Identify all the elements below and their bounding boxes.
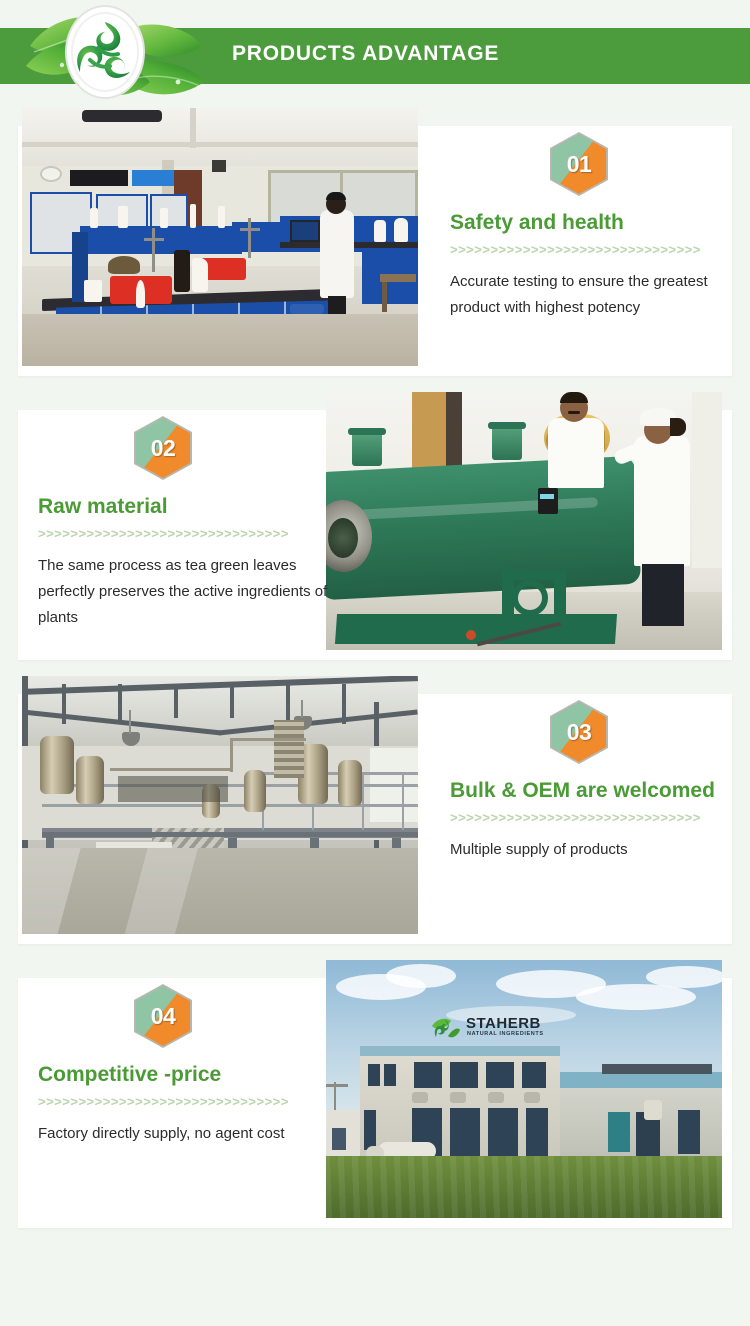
advantage-description: The same process as tea green leaves per… [38,553,328,631]
advantage-title: Raw material [38,494,328,519]
advantage-number: 03 [550,700,608,764]
advantage-row-01: 01 Safety and health >>>>>>>>>>>>>>>>>>>… [0,108,750,392]
advantage-text-01: 01 Safety and health >>>>>>>>>>>>>>>>>>>… [450,132,740,321]
advantage-number: 01 [550,132,608,196]
building-tagline-text: NATURAL INGREDIENTS [467,1031,544,1037]
rooftop-sign: STAHERB NATURAL INGREDIENTS [426,1016,576,1048]
extraction-factory-interior-photo [22,676,418,934]
advantage-text-03: 03 Bulk & OEM are welcomed >>>>>>>>>>>>>… [450,700,740,863]
advantage-list: 01 Safety and health >>>>>>>>>>>>>>>>>>>… [0,108,750,1244]
staherb-factory-building-photo: STAHERB NATURAL INGREDIENTS [326,960,722,1218]
advantage-text-02: 02 Raw material >>>>>>>>>>>>>>>>>>>>>>>>… [38,416,328,631]
advantage-badge-04: 04 [134,984,192,1048]
page-header: PRODUCTS ADVANTAGE [0,0,750,108]
staherb-leaf-logo-small [430,1014,460,1044]
chevron-divider-icon: >>>>>>>>>>>>>>>>>>>>>>>>>>>>>>> [450,811,740,825]
advantage-badge-03: 03 [550,700,608,764]
advantage-row-04: STAHERB NATURAL INGREDIENTS [0,960,750,1244]
advantage-title: Bulk & OEM are welcomed [450,778,740,803]
advantage-text-04: 04 Competitive -price >>>>>>>>>>>>>>>>>>… [38,984,328,1147]
advantage-badge-02: 02 [134,416,192,480]
advantage-description: Multiple supply of products [450,837,740,863]
advantage-row-03: 03 Bulk & OEM are welcomed >>>>>>>>>>>>>… [0,676,750,960]
advantage-description: Accurate testing to ensure the greatest … [450,269,740,321]
staherb-leaf-logo [18,2,218,108]
advantage-number: 04 [134,984,192,1048]
advantage-title: Competitive -price [38,1062,328,1087]
chevron-divider-icon: >>>>>>>>>>>>>>>>>>>>>>>>>>>>>>> [38,527,328,541]
chevron-divider-icon: >>>>>>>>>>>>>>>>>>>>>>>>>>>>>>> [38,1095,328,1109]
page-title: PRODUCTS ADVANTAGE [232,42,499,66]
green-tea-roasting-drum-photo [326,392,722,650]
advantage-number: 02 [134,416,192,480]
building-brand-text: STAHERB [466,1016,541,1031]
advantage-title: Safety and health [450,210,740,235]
laboratory-with-technician-photo [22,108,418,366]
chevron-divider-icon: >>>>>>>>>>>>>>>>>>>>>>>>>>>>>>> [450,243,740,257]
advantage-description: Factory directly supply, no agent cost [38,1121,328,1147]
advantage-badge-01: 01 [550,132,608,196]
advantage-row-02: 02 Raw material >>>>>>>>>>>>>>>>>>>>>>>>… [0,392,750,676]
